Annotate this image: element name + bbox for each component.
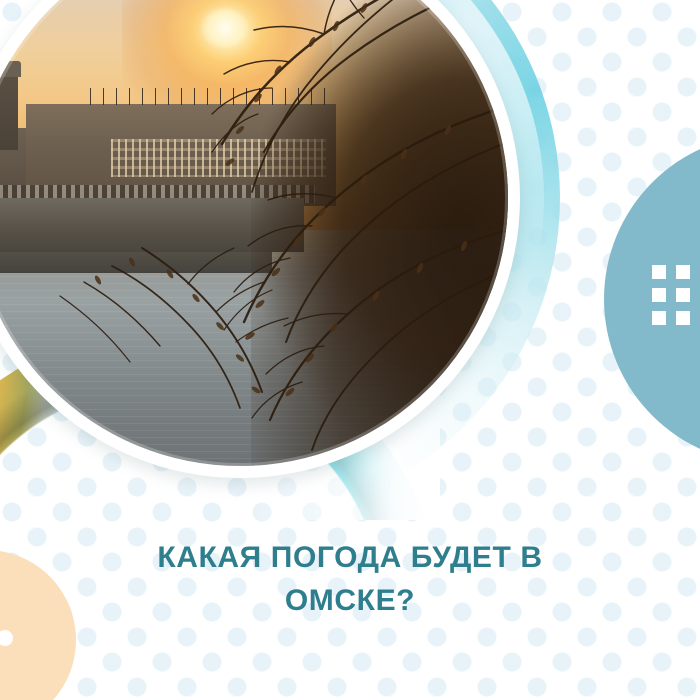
grid-cell bbox=[652, 288, 666, 302]
sunset-photo bbox=[0, 0, 508, 466]
grid-cell bbox=[676, 311, 690, 325]
grid-cell bbox=[676, 288, 690, 302]
grid-icon bbox=[652, 265, 700, 325]
grid-cell bbox=[652, 265, 666, 279]
page-title: КАКАЯ ПОГОДА БУДЕТ В ОМСКЕ? bbox=[0, 536, 700, 622]
grid-cell bbox=[652, 311, 666, 325]
grid-cell bbox=[676, 265, 690, 279]
poster-canvas: КАКАЯ ПОГОДА БУДЕТ В ОМСКЕ? bbox=[0, 0, 700, 700]
photo-circle bbox=[0, 0, 508, 466]
tree-branches bbox=[0, 0, 508, 466]
